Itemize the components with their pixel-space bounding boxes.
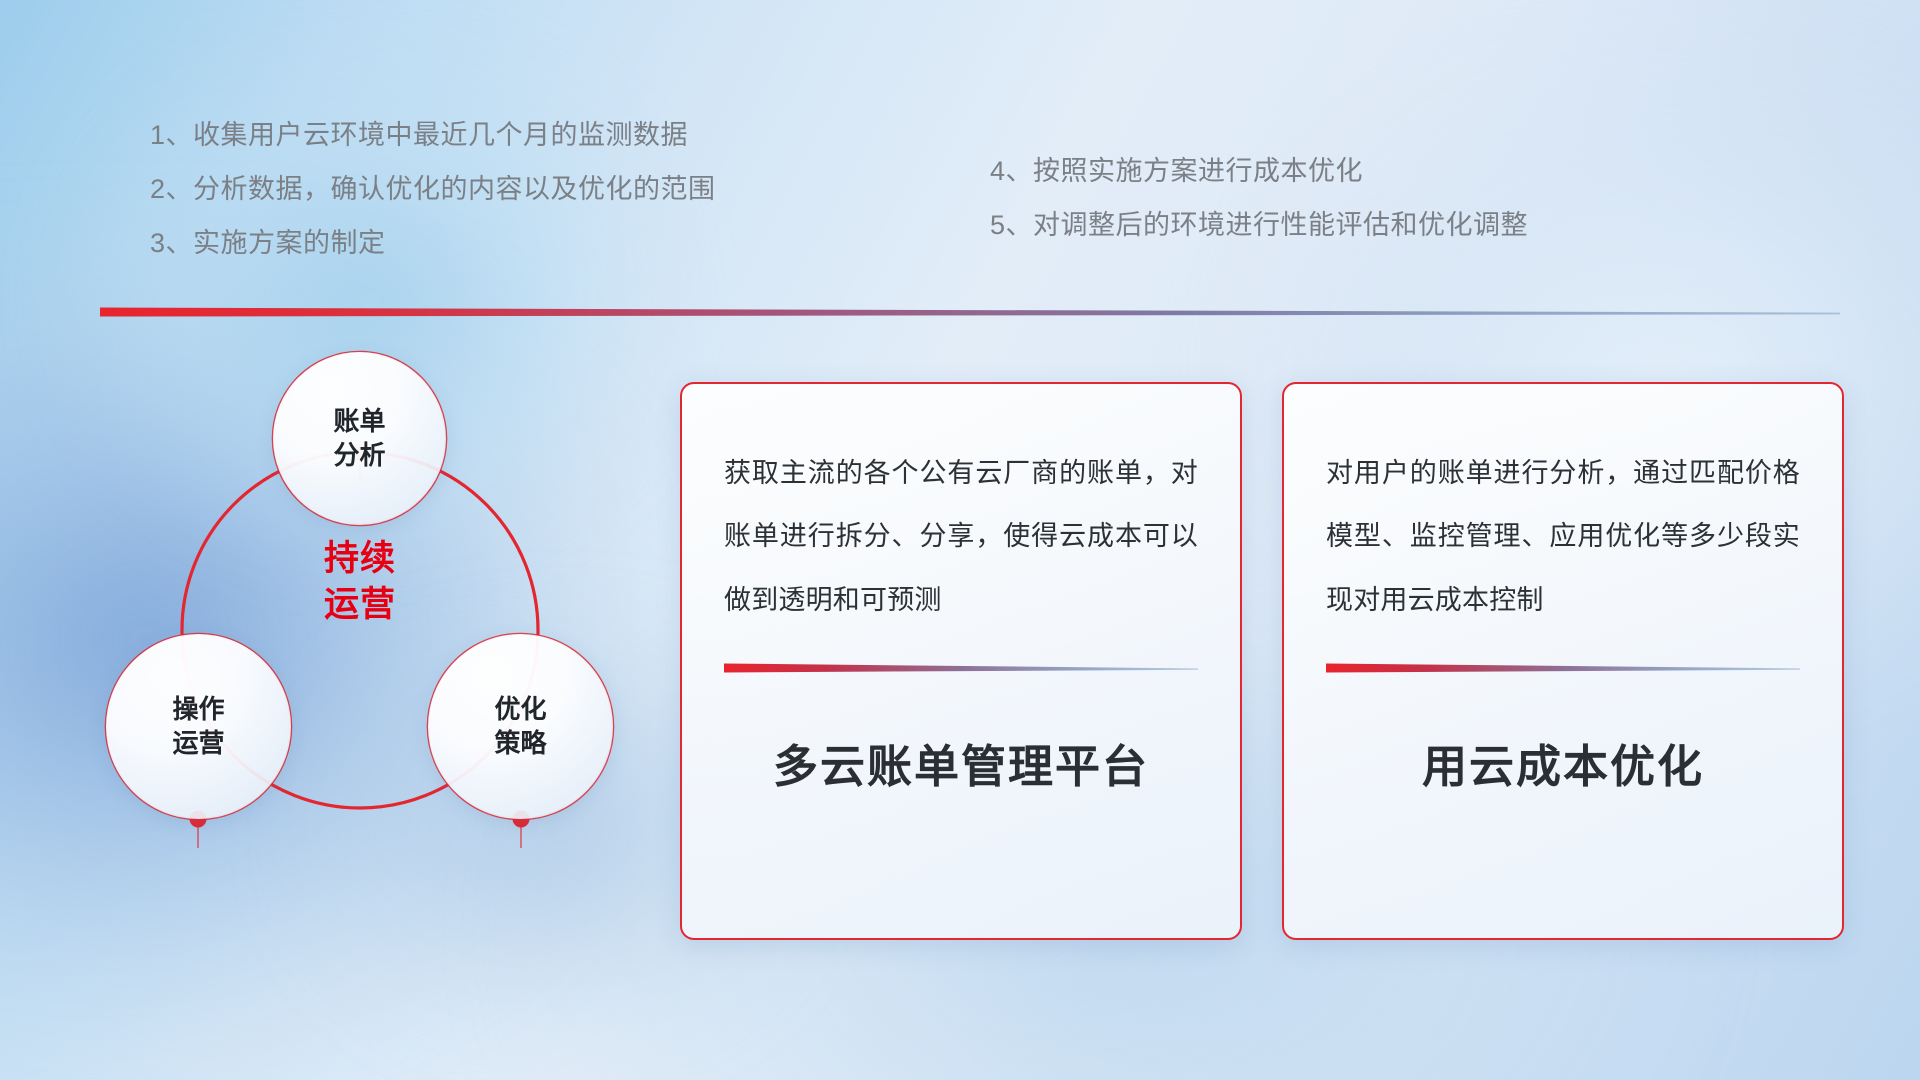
- bubble-billing-analysis[interactable]: 账单 分析: [273, 352, 446, 525]
- center-label-line2: 运营: [268, 582, 452, 628]
- card-title: 多云账单管理平台: [724, 730, 1198, 795]
- bubble-label-line1: 操作: [172, 693, 224, 726]
- info-card-cloud-cost-optimization[interactable]: 对用户的账单进行分析，通过匹配价格模型、监控管理、应用优化等多少段实现对用云成本…: [1282, 382, 1844, 940]
- card-title: 用云成本优化: [1326, 730, 1800, 795]
- bubble-label-line2: 分析: [333, 439, 385, 472]
- step-item-4: 4、按照实施方案进行成本优化: [990, 158, 1528, 185]
- step-item-5: 5、对调整后的环境进行性能评估和优化调整: [990, 212, 1528, 239]
- steps-list-right: 4、按照实施方案进行成本优化 5、对调整后的环境进行性能评估和优化调整: [990, 158, 1528, 266]
- card-body-text: 对用户的账单进行分析，通过匹配价格模型、监控管理、应用优化等多少段实现对用云成本…: [1326, 442, 1800, 632]
- slide-canvas: 1、收集用户云环境中最近几个月的监测数据 2、分析数据，确认优化的内容以及优化的…: [0, 0, 1920, 1080]
- bubble-label-line2: 策略: [494, 727, 546, 760]
- bubble-label-line2: 运营: [172, 727, 224, 760]
- center-label-line1: 持续: [268, 536, 452, 582]
- steps-list-left: 1、收集用户云环境中最近几个月的监测数据 2、分析数据，确认优化的内容以及优化的…: [150, 122, 716, 284]
- info-card-multicloud-billing[interactable]: 获取主流的各个公有云厂商的账单，对账单进行拆分、分享，使得云成本可以做到透明和可…: [680, 382, 1242, 940]
- cycle-diagram: 账单 分析 操作 运营 优化 策略 持续 运营: [90, 340, 660, 940]
- step-item-1: 1、收集用户云环境中最近几个月的监测数据: [150, 122, 716, 149]
- card-divider: [724, 662, 1198, 674]
- card-body-text: 获取主流的各个公有云厂商的账单，对账单进行拆分、分享，使得云成本可以做到透明和可…: [724, 442, 1198, 632]
- bubble-operations[interactable]: 操作 运营: [106, 634, 291, 819]
- header-divider: [100, 305, 1840, 319]
- step-item-2: 2、分析数据，确认优化的内容以及优化的范围: [150, 176, 716, 203]
- card-divider: [1326, 662, 1800, 674]
- bubble-label-line1: 账单: [333, 405, 385, 438]
- step-item-3: 3、实施方案的制定: [150, 230, 716, 257]
- bubble-optimization-strategy[interactable]: 优化 策略: [428, 634, 613, 819]
- cycle-center-label: 持续 运营: [268, 536, 452, 627]
- bubble-label-line1: 优化: [494, 693, 546, 726]
